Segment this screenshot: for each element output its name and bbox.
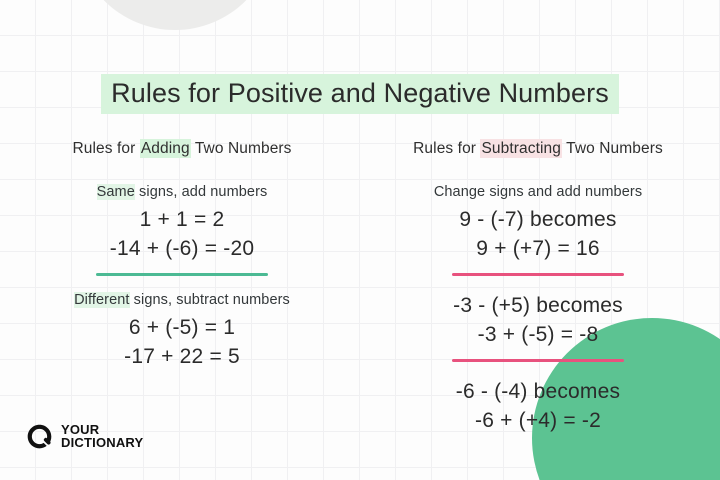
rule-label-different-signs: Different signs, subtract numbers xyxy=(26,292,338,308)
column-subtracting: Rules for Subtracting Two Numbers Change… xyxy=(360,140,720,436)
equation: 1 + 1 = 2 xyxy=(26,206,338,235)
column-adding: Rules for Adding Two Numbers Same signs,… xyxy=(0,140,360,436)
heading-suffix: Two Numbers xyxy=(562,140,663,157)
yourdictionary-logo: YOUR DICTIONARY xyxy=(26,423,143,450)
rules-columns: Rules for Adding Two Numbers Same signs,… xyxy=(0,140,720,436)
divider-pink xyxy=(452,273,624,276)
heading-highlight-subtracting: Subtracting xyxy=(480,139,562,158)
heading-prefix: Rules for xyxy=(72,140,139,157)
content-layer: Rules for Positive and Negative Numbers … xyxy=(0,0,720,480)
column-heading-adding: Rules for Adding Two Numbers xyxy=(26,140,338,158)
page-title: Rules for Positive and Negative Numbers xyxy=(101,74,619,114)
logo-line-1: YOUR xyxy=(61,423,143,437)
rule-label-highlight: Same xyxy=(97,184,135,200)
heading-suffix: Two Numbers xyxy=(191,140,292,157)
logo-wordmark: YOUR DICTIONARY xyxy=(61,423,143,450)
page-title-wrapper: Rules for Positive and Negative Numbers xyxy=(0,74,720,114)
logo-line-2: DICTIONARY xyxy=(61,436,143,450)
rule-label-change-signs: Change signs and add numbers xyxy=(382,184,694,200)
equation: 6 + (-5) = 1 xyxy=(26,314,338,343)
rule-label-rest: signs, add numbers xyxy=(135,184,267,200)
rule-block-example-two: -3 - (+5) becomes -3 + (-5) = -8 xyxy=(382,292,694,362)
column-heading-subtracting: Rules for Subtracting Two Numbers xyxy=(382,140,694,158)
heading-prefix: Rules for xyxy=(413,140,480,157)
equation: -14 + (-6) = -20 xyxy=(26,235,338,264)
divider-green xyxy=(96,273,268,276)
divider-pink xyxy=(452,359,624,362)
rule-block-example-three: -6 - (-4) becomes -6 + (+4) = -2 xyxy=(382,378,694,436)
equation: -17 + 22 = 5 xyxy=(26,343,338,372)
equation: -3 + (-5) = -8 xyxy=(382,321,694,350)
rule-label-same-signs: Same signs, add numbers xyxy=(26,184,338,200)
equation: -6 + (+4) = -2 xyxy=(382,407,694,436)
heading-highlight-adding: Adding xyxy=(140,139,191,158)
equation: 9 + (+7) = 16 xyxy=(382,235,694,264)
equation: 9 - (-7) becomes xyxy=(382,206,694,235)
equation: -3 - (+5) becomes xyxy=(382,292,694,321)
rule-label-rest: signs, subtract numbers xyxy=(130,292,290,308)
yourdictionary-logo-icon xyxy=(26,423,53,450)
rule-block-change-signs: Change signs and add numbers 9 - (-7) be… xyxy=(382,184,694,276)
infographic-canvas: Rules for Positive and Negative Numbers … xyxy=(0,0,720,480)
rule-label-highlight: Different xyxy=(74,292,129,308)
equation: -6 - (-4) becomes xyxy=(382,378,694,407)
rule-block-same-signs: Same signs, add numbers 1 + 1 = 2 -14 + … xyxy=(26,184,338,276)
rule-block-different-signs: Different signs, subtract numbers 6 + (-… xyxy=(26,292,338,372)
